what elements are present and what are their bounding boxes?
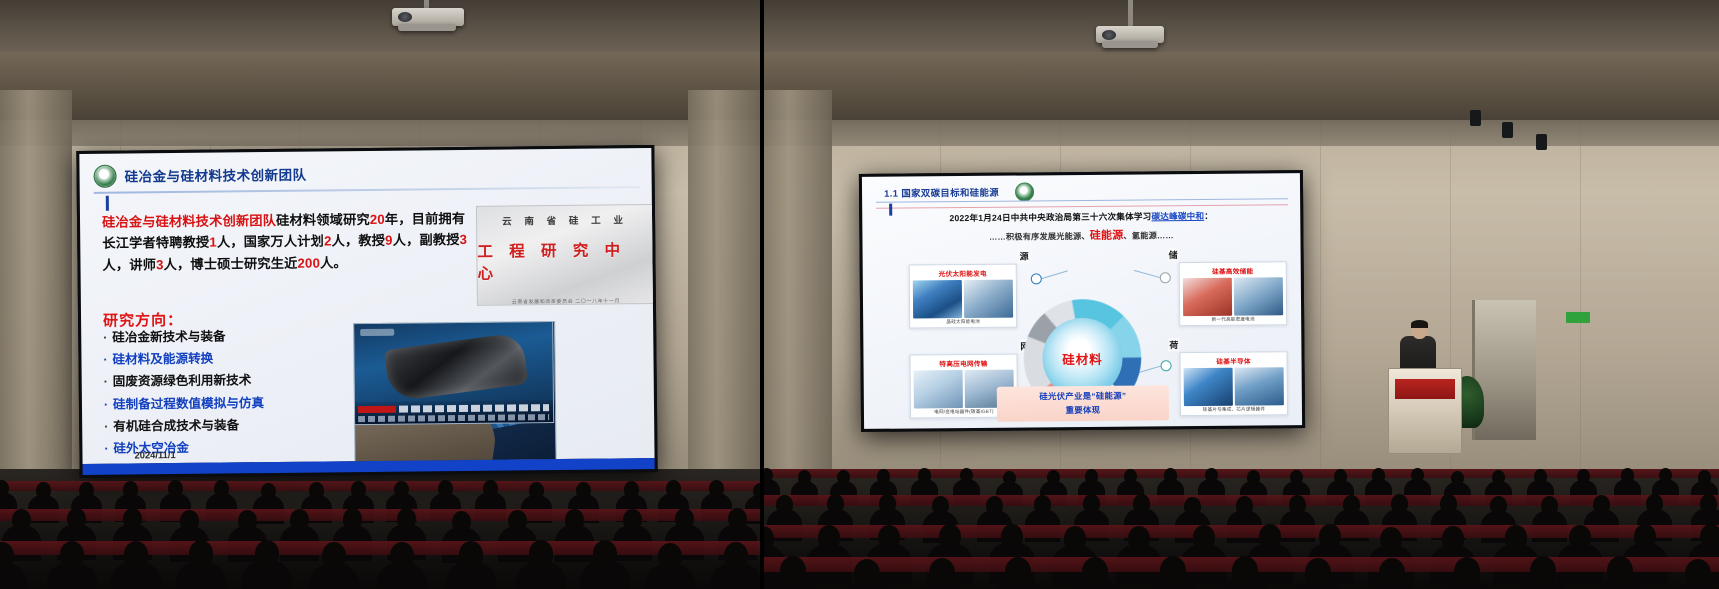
audience-head xyxy=(529,540,553,567)
audience-head xyxy=(483,480,498,497)
audience-head xyxy=(1236,496,1253,515)
audience-head xyxy=(565,509,584,530)
audience-head xyxy=(1184,497,1201,516)
card-images xyxy=(913,280,1013,319)
university-seal-icon xyxy=(1015,182,1034,201)
quadrant-label-load: 荷 xyxy=(1168,338,1179,351)
metal-sample-image xyxy=(383,332,527,402)
audience-head xyxy=(929,558,955,587)
slide-left-tick-mark xyxy=(106,196,109,211)
node-load-icon xyxy=(1161,360,1172,371)
card-images xyxy=(1183,277,1283,316)
engineering-center-certificate: 云 南 省 硅 工 业 工 程 研 究 中 心 云南省发展和改革委员会 二〇一八… xyxy=(476,204,655,306)
projector-base-right xyxy=(1102,41,1158,48)
audience-head xyxy=(1577,469,1590,484)
card-caption: 新一代高能密度电池 xyxy=(1183,316,1283,323)
policy-quote-keyword: 碳达峰碳中和 xyxy=(1151,211,1204,221)
audience-head xyxy=(1490,496,1507,515)
paragraph-segment-4: 1 xyxy=(209,235,217,250)
node-storage-icon xyxy=(1160,272,1171,283)
semiconductor-image xyxy=(1184,368,1233,406)
paragraph-segment-9: 人，副教授 xyxy=(393,232,460,248)
audience-head xyxy=(1193,525,1215,550)
right-auditorium-view: 1.1 国家双碳目标和硅能源 2022年1月24日中共中央政治局第三十六次集体学… xyxy=(760,0,1719,589)
audience-head xyxy=(397,508,416,529)
slide-right: 1.1 国家双碳目标和硅能源 2022年1月24日中共中央政治局第三十六次集体学… xyxy=(862,173,1302,429)
research-directions-heading: 研究方向： xyxy=(103,309,183,331)
tv-caption-tag xyxy=(358,406,396,413)
audience-head xyxy=(1685,559,1711,588)
research-direction-item: ·固废资源绿色利用新技术 xyxy=(104,374,354,390)
seat-row xyxy=(760,469,1719,478)
card-title: 光伏太阳能发电 xyxy=(913,268,1013,279)
audience-head xyxy=(189,540,213,567)
solar-chip-image xyxy=(964,280,1013,318)
policy-quote-line1: 2022年1月24日中共中央政治局第三十六次集体学习碳达峰碳中和： xyxy=(862,209,1300,225)
audience-head xyxy=(1164,468,1177,483)
audience-head xyxy=(309,482,324,499)
audience-head xyxy=(1700,524,1719,549)
audience-head xyxy=(879,494,896,513)
audience-head xyxy=(1259,524,1281,549)
audience-head xyxy=(123,508,142,529)
certificate-sub-line: 云南省发展和改革委员会 二〇一八年十一月 xyxy=(512,298,620,307)
audience-head xyxy=(827,494,844,513)
connector-line xyxy=(1134,270,1161,279)
audience-head xyxy=(1492,470,1505,485)
audience-head xyxy=(960,468,973,483)
audience-head xyxy=(1334,469,1347,484)
cell-module-image xyxy=(1234,277,1283,315)
projector-lens-icon xyxy=(398,12,412,22)
wafer-image xyxy=(1235,367,1284,405)
card-caption: 硅基片与集成、芯片逻辑器件 xyxy=(1184,406,1284,413)
audience-head xyxy=(1289,495,1306,514)
audience-head xyxy=(1569,525,1591,550)
audience-head xyxy=(986,496,1003,515)
paragraph-segment-5: 人，国家万人计划 xyxy=(217,234,324,250)
audience-head xyxy=(1698,470,1711,485)
card-title: 硅基高效储能 xyxy=(1183,265,1283,276)
seat-row xyxy=(0,509,760,521)
solar-farm-image xyxy=(913,280,962,318)
audience-head xyxy=(1505,525,1527,550)
audience-head xyxy=(776,495,793,514)
audience-head xyxy=(576,482,591,499)
audience-head xyxy=(1451,471,1464,486)
audience-head xyxy=(36,482,51,499)
audience-head xyxy=(1205,468,1218,483)
audience-head xyxy=(79,482,94,499)
audience-head xyxy=(1083,494,1100,513)
audience-head xyxy=(1247,470,1260,485)
audience-head xyxy=(261,483,276,500)
audience-head xyxy=(658,543,682,570)
audience-head xyxy=(124,541,148,568)
paragraph-segment-0: 硅冶金与硅材料技术创新团队 xyxy=(102,213,276,230)
audience-head xyxy=(724,542,748,569)
research-direction-label: 硅材料及能源转换 xyxy=(112,352,213,367)
audience-head xyxy=(394,481,409,498)
slide-right-title: 1.1 国家双碳目标和硅能源 xyxy=(884,185,999,200)
banner-line-2: 重要体现 xyxy=(1003,403,1163,416)
audience-head xyxy=(593,540,617,567)
audience-head xyxy=(1659,468,1672,483)
audience-head xyxy=(709,480,724,497)
research-direction-label: 硅冶金新技术与装备 xyxy=(112,329,225,344)
ceiling-upper-right xyxy=(760,0,1719,52)
audience-head xyxy=(390,542,414,569)
quadrant-label-storage: 储 xyxy=(1168,248,1179,261)
bullet-dot-icon: · xyxy=(104,398,113,411)
audience-head xyxy=(1034,495,1051,514)
exit-sign xyxy=(1566,312,1590,323)
audience-head xyxy=(1085,469,1098,484)
audience-head xyxy=(1133,494,1150,513)
conclusion-banner: 硅光伏产业是“硅能源” 重要体现 xyxy=(997,385,1169,421)
audience-head xyxy=(343,508,362,529)
paragraph-segment-2: 20 xyxy=(370,212,385,227)
audience-head xyxy=(1343,495,1360,514)
audience-head xyxy=(180,510,199,531)
card-title: 硅基半导体 xyxy=(1183,355,1283,366)
slide-left-header: 硅冶金与硅材料技术创新团队 xyxy=(93,156,639,190)
audience-head xyxy=(1391,494,1408,513)
connector-line xyxy=(1041,270,1068,279)
seat-row xyxy=(0,481,760,491)
research-direction-item: ·硅冶金新技术与装备 xyxy=(103,329,353,345)
audience-head xyxy=(837,470,850,485)
audience-head xyxy=(508,510,527,531)
paragraph-segment-7: 人，教授 xyxy=(331,233,385,249)
audience-head xyxy=(1442,526,1464,551)
slide-left: 硅冶金与硅材料技术创新团队 硅冶金与硅材料技术创新团队硅材料领域研究20年，目前… xyxy=(79,148,654,475)
audience-head xyxy=(1646,494,1663,513)
audience-head xyxy=(798,470,811,485)
paragraph-segment-13: 人，博士硕士研究生近 xyxy=(164,255,298,271)
audience-head xyxy=(12,509,31,530)
audience-head xyxy=(1621,468,1634,483)
tv-news-metal-photo xyxy=(353,321,554,425)
card-semiconductor: 硅基半导体 硅基片与集成、芯片逻辑器件 xyxy=(1179,351,1288,416)
audience-head xyxy=(452,511,471,532)
audience-head xyxy=(1372,468,1385,483)
card-caption: 晶硅太阳能电池 xyxy=(913,319,1013,326)
audience-head xyxy=(939,524,961,549)
seat-row xyxy=(0,541,760,555)
audience-head xyxy=(1607,556,1633,585)
audience-head xyxy=(1634,524,1656,549)
audience-head xyxy=(1305,558,1331,587)
battery-image xyxy=(1183,278,1232,316)
audience-head xyxy=(1593,495,1610,514)
audience-head xyxy=(1003,471,1016,486)
scene-root: 硅冶金与硅材料技术创新团队 硅冶金与硅材料技术创新团队硅材料领域研究20年，目前… xyxy=(0,0,1719,589)
audience-head xyxy=(1411,468,1424,483)
audience-right xyxy=(760,429,1719,589)
bullet-dot-icon: · xyxy=(104,376,113,389)
audience-head xyxy=(529,482,544,499)
audience-head xyxy=(728,508,747,529)
card-photovoltaic: 光伏太阳能发电 晶硅太阳能电池 xyxy=(909,264,1018,329)
audience-left xyxy=(0,429,760,589)
audience-head xyxy=(60,541,84,568)
audience-head xyxy=(878,525,900,550)
certificate-top-line: 云 南 省 硅 工 业 xyxy=(502,212,628,227)
research-direction-item: ·硅材料及能源转换 xyxy=(103,351,353,367)
audience-head xyxy=(1001,524,1023,549)
research-direction-item: ·硅制备过程数值模拟与仿真 xyxy=(104,396,354,412)
audience-head xyxy=(877,469,890,484)
audience-head xyxy=(459,541,483,568)
projector-base-left xyxy=(398,24,456,31)
slide-left-title: 硅冶金与硅材料技术创新团队 xyxy=(124,164,306,186)
audience-head xyxy=(1379,558,1405,587)
audience-head xyxy=(666,480,681,497)
card-energy-storage: 硅基高效储能 新一代高能密度电池 xyxy=(1179,261,1288,326)
certificate-main-line: 工 程 研 究 中 心 xyxy=(477,238,653,284)
grid-device-image xyxy=(914,370,963,408)
slide-right-rule-pink xyxy=(876,204,1288,209)
bullet-dot-icon: · xyxy=(103,354,112,367)
paragraph-segment-15: 人。 xyxy=(320,255,347,270)
audience-head xyxy=(1541,496,1558,515)
audience-head xyxy=(1232,556,1258,585)
audience-head xyxy=(67,508,86,529)
track-light-icon xyxy=(1502,122,1513,138)
audience-head xyxy=(1319,524,1341,549)
track-light-icon xyxy=(1470,110,1481,126)
audience-head xyxy=(675,508,694,529)
policy-quote-suffix: ： xyxy=(1204,211,1213,221)
ceiling-upper-left xyxy=(0,0,760,52)
panel-divider xyxy=(760,0,764,589)
left-auditorium-view: 硅冶金与硅材料技术创新团队 硅冶金与硅材料技术创新团队硅材料领域研究20年，目前… xyxy=(0,0,760,589)
quadrant-label-source: 源 xyxy=(1019,249,1030,262)
audience-head xyxy=(1005,557,1031,586)
policy-quote-prefix: 2022年1月24日中共中央政治局第三十六次集体学习 xyxy=(949,211,1151,223)
lectern-nameplate xyxy=(1395,379,1455,399)
audience-head xyxy=(780,556,806,585)
audience-head xyxy=(1380,527,1402,552)
university-seal-icon xyxy=(93,164,116,187)
projector-mount-right xyxy=(1128,0,1133,28)
audience-head xyxy=(1534,469,1547,484)
bullet-dot-icon: · xyxy=(103,332,112,345)
audience-head xyxy=(1160,556,1186,585)
track-light-icon xyxy=(1536,134,1547,150)
paragraph-segment-11: 人，讲师 xyxy=(102,257,156,273)
audience-head xyxy=(1124,469,1137,484)
audience-head xyxy=(238,510,257,531)
audience-head xyxy=(123,481,138,498)
audience-head xyxy=(1128,526,1150,551)
audience-head xyxy=(854,559,880,588)
audience-head xyxy=(1082,557,1108,586)
slide-left-paragraph: 硅冶金与硅材料技术创新团队硅材料领域研究20年，目前拥有长江学者特聘教授1人，国… xyxy=(102,208,471,276)
research-direction-label: 硅制备过程数值模拟与仿真 xyxy=(113,396,264,412)
paragraph-segment-1: 硅材料领域研究 xyxy=(276,212,370,228)
audience-head xyxy=(214,480,229,497)
audience-head xyxy=(1064,526,1086,551)
audience-head xyxy=(1440,494,1457,513)
audience-head xyxy=(1454,557,1480,586)
audience-head xyxy=(438,480,453,497)
audience-head xyxy=(753,483,760,500)
audience-head xyxy=(1530,556,1556,585)
research-direction-label: 固废资源绿色利用新技术 xyxy=(113,374,252,389)
silicon-energy-diagram: 源 网 储 荷 硅材料 xyxy=(862,237,1302,429)
audience-head xyxy=(322,542,346,569)
audience-head xyxy=(918,468,931,483)
banner-line-1: 硅光伏产业是“硅能源” xyxy=(1003,389,1163,402)
audience-head xyxy=(1047,470,1060,485)
audience-head xyxy=(290,509,309,530)
audience-head xyxy=(351,481,366,498)
audience-head xyxy=(1290,470,1303,485)
audience-head xyxy=(255,540,279,567)
paragraph-segment-14: 200 xyxy=(297,255,320,270)
tv-channel-logo xyxy=(360,329,394,336)
audience-head xyxy=(818,525,840,550)
speaker-hair xyxy=(1411,320,1428,328)
node-source-icon xyxy=(1031,273,1042,284)
audience-head xyxy=(623,509,642,530)
card-images xyxy=(1184,367,1284,406)
audience-head xyxy=(168,480,183,497)
paragraph-segment-10: 3 xyxy=(460,232,468,247)
projection-screen-right: 1.1 国家双碳目标和硅能源 2022年1月24日中共中央政治局第三十六次集体学… xyxy=(859,170,1305,432)
audience-head xyxy=(1700,494,1717,513)
card-title: 特高压电网传输 xyxy=(913,358,1013,369)
lectern xyxy=(1388,368,1462,454)
audience-head xyxy=(624,481,639,498)
audience-head xyxy=(932,496,949,515)
projector-lens-icon xyxy=(1102,30,1116,40)
